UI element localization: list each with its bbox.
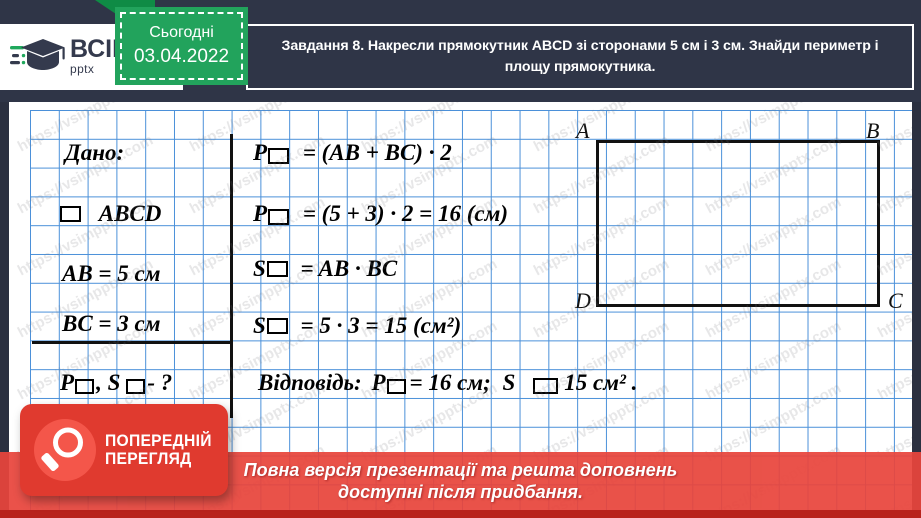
- perimeter-formula-row: P = (AB + BC) · 2: [253, 140, 452, 166]
- vertex-label-a: A: [576, 118, 589, 144]
- answer-s-symbol: S: [502, 370, 515, 395]
- given-shape-label: ABCD: [99, 201, 162, 226]
- rectangle-symbol-icon: [267, 318, 288, 334]
- today-label: Сьогодні: [149, 24, 214, 42]
- given-heading: Дано:: [65, 140, 124, 166]
- area-calc-rhs: = 5 · 3 = 15 (см²): [301, 313, 462, 338]
- area-formula-row: S = AB · BC: [253, 256, 397, 282]
- rectangle-symbol-icon: [267, 261, 288, 277]
- find-p-label: P: [60, 370, 74, 395]
- rectangle-symbol-icon: [126, 379, 145, 394]
- given-ab: AB = 5 см: [62, 261, 161, 287]
- area-calc-lhs: S: [253, 313, 266, 338]
- horizontal-divider-line: [32, 341, 231, 344]
- page-title: Завдання 8. Накресли прямокутник ABCD зі…: [248, 36, 912, 79]
- preview-badge-line1: ПОПЕРЕДНІЙ: [105, 432, 212, 450]
- preview-badge-line2: ПЕРЕГЛЯД: [105, 450, 212, 468]
- rectangle-symbol-icon: [533, 378, 558, 394]
- vertex-label-d: D: [575, 288, 591, 314]
- perimeter-calc-lhs: P: [253, 201, 267, 226]
- given-bc: BC = 3 см: [62, 311, 161, 337]
- find-mid-label: , S: [96, 370, 120, 395]
- rectangle-symbol-icon: [268, 148, 289, 164]
- answer-p-value: = 16 см;: [410, 370, 491, 395]
- abcd-rectangle-diagram: [596, 140, 880, 307]
- area-formula-lhs: S: [253, 256, 266, 281]
- rectangle-symbol-icon: [268, 209, 289, 225]
- vertex-label-c: C: [888, 288, 903, 314]
- graduation-cap-icon: [10, 34, 66, 78]
- preview-badge-text: ПОПЕРЕДНІЙ ПЕРЕГЛЯД: [105, 432, 221, 467]
- today-date-badge: Сьогодні 03.04.2022: [115, 7, 248, 85]
- perimeter-formula-lhs: P: [253, 140, 267, 165]
- header-band: Завдання 8. Накресли прямокутник ABCD зі…: [0, 0, 921, 102]
- task-title-box: Завдання 8. Накресли прямокутник ABCD зі…: [246, 24, 914, 90]
- rectangle-symbol-icon: [75, 379, 94, 394]
- given-shape-row: ABCD: [58, 201, 161, 227]
- area-calc-row: S = 5 · 3 = 15 (см²): [253, 313, 461, 339]
- preview-badge[interactable]: ПОПЕРЕДНІЙ ПЕРЕГЛЯД: [20, 404, 228, 496]
- perimeter-calc-rhs: = (5 + 3) · 2 = 16 (см): [303, 201, 508, 226]
- perimeter-calc-row: P = (5 + 3) · 2 = 16 (см): [253, 201, 508, 227]
- answer-label: Відповідь:: [258, 370, 362, 395]
- perimeter-formula-rhs: = (AB + BC) · 2: [303, 140, 452, 165]
- area-formula-rhs: = AB · BC: [301, 256, 398, 281]
- vertical-divider-line: [230, 134, 233, 418]
- rectangle-symbol-icon: [60, 206, 81, 222]
- answer-row: Відповідь: P= 16 см; S15 см² .: [258, 370, 637, 396]
- banner-bottom-strip: [0, 510, 921, 518]
- rectangle-symbol-icon: [387, 379, 406, 394]
- vertex-label-b: B: [866, 118, 879, 144]
- magnifier-icon: [34, 419, 96, 481]
- slide-canvas: Дано: ABCD AB = 5 см BC = 3 см P, S- ? P…: [0, 0, 921, 518]
- today-date: 03.04.2022: [134, 46, 229, 68]
- find-suffix-label: - ?: [147, 370, 172, 395]
- given-find-row: P, S- ?: [60, 370, 172, 396]
- answer-p-symbol: P: [371, 370, 385, 395]
- answer-s-value: 15 см² .: [564, 370, 637, 395]
